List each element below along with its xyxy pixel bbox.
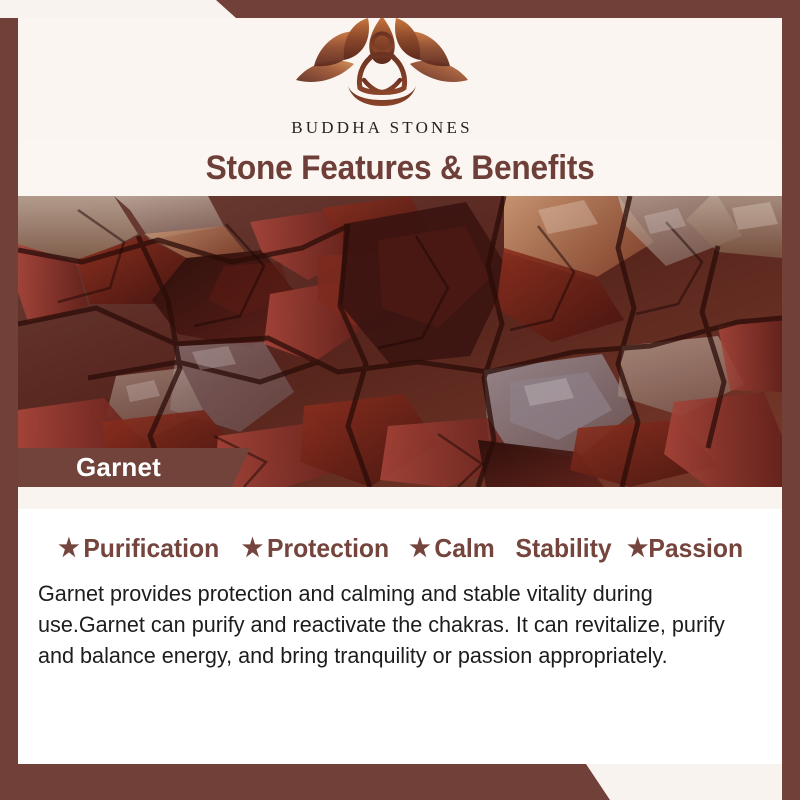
star-icon: ★: [409, 536, 430, 561]
benefit-label: Purification: [83, 533, 219, 564]
stone-description: Garnet provides protection and calming a…: [38, 578, 725, 671]
benefit-label: Passion: [648, 533, 743, 564]
benefit-label: Calm: [434, 533, 494, 564]
star-icon: ★: [58, 536, 79, 561]
brand-name: BUDDHA STONES: [0, 118, 764, 138]
benefit-label: Protection: [267, 533, 389, 564]
stone-photo: [18, 196, 782, 487]
star-icon: ★: [241, 536, 262, 561]
benefit-stability: Stability: [515, 533, 611, 564]
section-heading-band: Stone Features & Benefits: [18, 140, 782, 196]
brand-logo: BUDDHA STONES: [0, 14, 764, 138]
benefit-calm: ★ Calm: [409, 533, 495, 564]
stone-name: Garnet: [76, 452, 161, 483]
page-title: Stone Features & Benefits: [206, 149, 595, 188]
stone-info-card: BUDDHA STONES Stone Features & Benefits: [0, 0, 800, 800]
benefit-purification: ★ Purification: [58, 533, 219, 564]
benefit-label: Stability: [515, 533, 611, 564]
garnet-cluster-image: [18, 196, 782, 487]
benefit-passion: ★ Passion: [627, 533, 743, 564]
benefit-protection: ★ Protection: [241, 533, 388, 564]
frame-right-edge: [782, 0, 800, 800]
frame-bottom-edge: [0, 764, 800, 800]
benefit-keyword-row: ★ Purification ★ Protection ★ Calm Stabi…: [18, 529, 782, 567]
panel-top-tint: [18, 487, 782, 509]
frame-left-edge: [0, 0, 18, 800]
lotus-meditation-logo-icon: [284, 14, 480, 114]
star-icon: ★: [627, 536, 648, 561]
frame-left-top-notch: [0, 0, 18, 18]
